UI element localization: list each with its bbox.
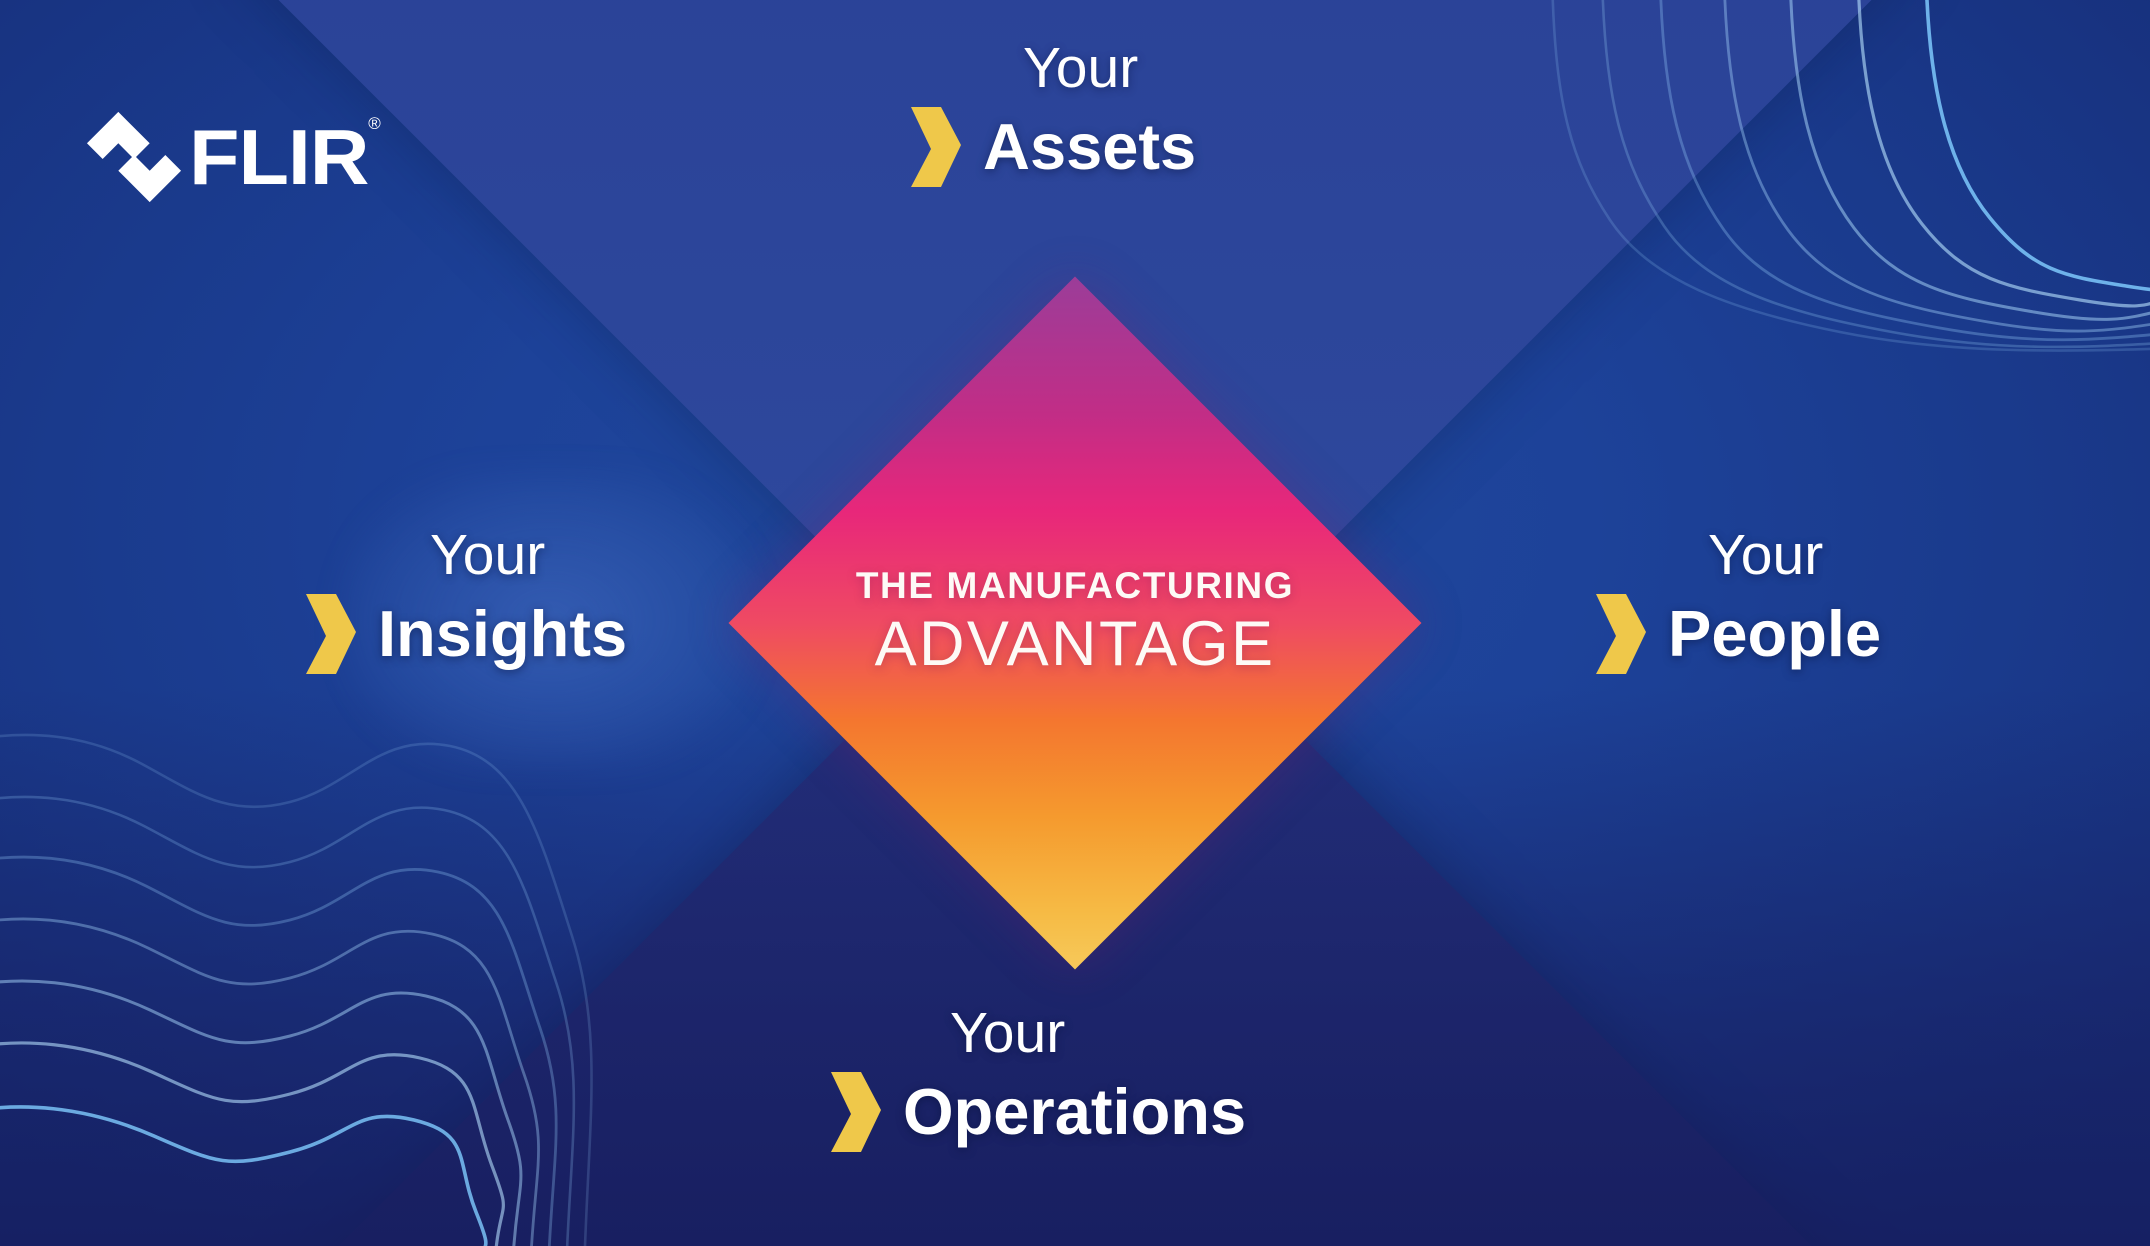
chevron-right-icon: [300, 590, 358, 678]
quadrant-row-operations: Operations: [825, 1068, 1246, 1156]
flir-diamond-mark-icon: [85, 108, 183, 206]
registered-trademark-icon: ®: [368, 114, 381, 134]
contour-lines-top-right-icon: [1540, 0, 2150, 540]
quadrant-prefix-people: Your: [1708, 527, 1881, 584]
quadrant-title-assets: Assets: [983, 112, 1196, 182]
chevron-right-icon: [905, 103, 963, 191]
quadrant-row-people: People: [1590, 590, 1881, 678]
quadrant-prefix-assets: Your: [1023, 40, 1196, 97]
chevron-right-icon: [825, 1068, 883, 1156]
center-headline: THE MANUFACTURING ADVANTAGE: [755, 567, 1395, 679]
quadrant-row-insights: Insights: [300, 590, 627, 678]
quadrant-label-people[interactable]: Your People: [1590, 527, 1881, 678]
quadrant-label-operations[interactable]: Your Operations: [825, 1005, 1246, 1156]
flir-wordmark: FLIR: [189, 122, 368, 192]
contour-lines-bottom-left-icon: [0, 706, 620, 1246]
headline-main: ADVANTAGE: [755, 609, 1395, 680]
quadrant-prefix-operations: Your: [950, 1005, 1246, 1062]
quadrant-prefix-insights: Your: [430, 527, 627, 584]
headline-eyebrow: THE MANUFACTURING: [755, 567, 1395, 606]
flir-logo[interactable]: FLIR ®: [85, 108, 381, 206]
quadrant-label-insights[interactable]: Your Insights: [300, 527, 627, 678]
quadrant-title-people: People: [1668, 599, 1881, 669]
chevron-right-icon: [1590, 590, 1648, 678]
slide-canvas: FLIR ® THE MANUFACTURING ADVANTAGE Your …: [0, 0, 2150, 1246]
quadrant-title-operations: Operations: [903, 1077, 1246, 1147]
quadrant-row-assets: Assets: [905, 103, 1196, 191]
quadrant-title-insights: Insights: [378, 599, 627, 669]
quadrant-label-assets[interactable]: Your Assets: [905, 40, 1196, 191]
